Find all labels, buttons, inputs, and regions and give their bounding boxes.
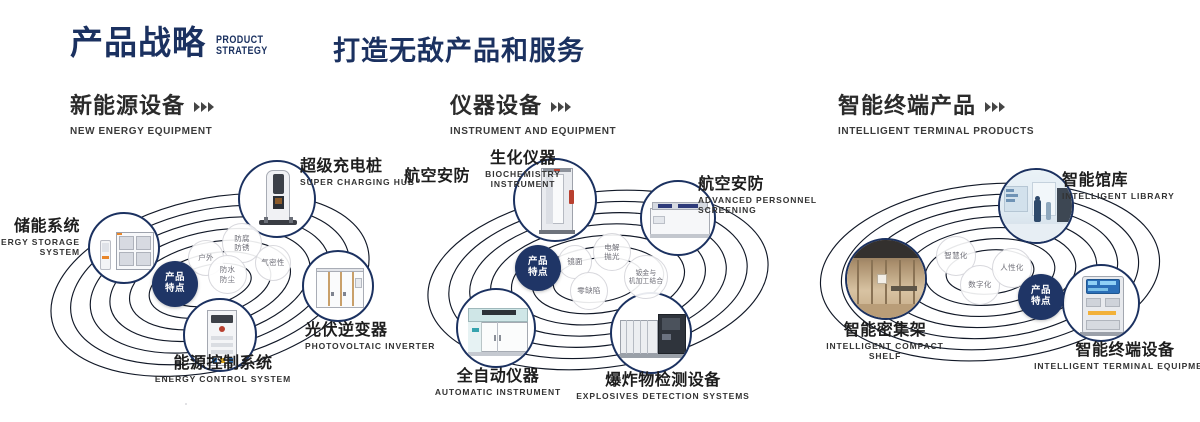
node-label-intelligent-compact-shelf-en2: SHELF bbox=[869, 351, 901, 361]
feature-bubble-airtightness-l1: 气密性 bbox=[261, 258, 284, 267]
intelligent-compact-shelf-image bbox=[847, 240, 925, 318]
section-heading-new-energy-en: NEW ENERGY EQUIPMENT bbox=[70, 126, 214, 137]
center-badge-product-features: 产品 特点 bbox=[1018, 274, 1064, 320]
node-label-intelligent-compact-shelf-en: INTELLIGENT COMPACT SHELF bbox=[780, 341, 990, 362]
chevron-right-icon bbox=[194, 102, 214, 112]
node-label-explosives-detection-systems-cn: 爆炸物检测设备 bbox=[538, 372, 788, 389]
center-badge-line2: 特点 bbox=[165, 284, 185, 295]
center-badge-line2: 特点 bbox=[1031, 297, 1051, 308]
node-label-intelligent-terminal-equipment-en: INTELLIGENT TERMINAL EQUIPMENT bbox=[1000, 361, 1200, 372]
node-intelligent-compact-shelf[interactable] bbox=[845, 238, 927, 320]
node-label-intelligent-terminal-equipment-cn: 智能终端设备 bbox=[1000, 342, 1200, 359]
center-badge-line2: 特点 bbox=[528, 268, 548, 279]
feature-bubble-sheetmetal-machining-l2: 机加工结合 bbox=[629, 277, 663, 285]
node-label-aviation-security-left: 航空安防 bbox=[338, 168, 470, 185]
section-heading-intelligent-terminal: 智能终端产品 INTELLIGENT TERMINAL PRODUCTS bbox=[838, 96, 1034, 137]
feature-bubble-waterproof-l1: 防水 bbox=[220, 265, 236, 274]
feature-bubble-electrolytic-polishing: 电解 抛光 bbox=[593, 233, 631, 271]
section-heading-new-energy-cn-row: 新能源设备 bbox=[70, 96, 214, 118]
feature-bubble-zero-defect: 零缺陷 bbox=[570, 272, 608, 310]
node-label-energy-storage-system-en2: SYSTEM bbox=[40, 247, 80, 257]
feature-bubble-electrolytic-polishing-l1: 电解 bbox=[604, 243, 620, 252]
node-label-intelligent-library: 智能馆库 INTELLIGENT LIBRARY bbox=[1062, 172, 1200, 201]
feature-bubble-intelligentization-l1: 智慧化 bbox=[944, 251, 967, 260]
feature-bubble-sheetmetal-machining-l1: 钣金与 bbox=[636, 269, 657, 277]
center-badge-product-features: 产品 特点 bbox=[515, 245, 561, 291]
node-label-energy-storage-system-cn: 储能系统 bbox=[0, 218, 80, 235]
chevron-right-icon bbox=[985, 102, 1005, 112]
node-photovoltaic-inverter[interactable] bbox=[302, 250, 374, 322]
section-heading-new-energy: 新能源设备 NEW ENERGY EQUIPMENT bbox=[70, 96, 214, 137]
section-heading-intelligent-terminal-cn: 智能终端产品 bbox=[838, 96, 976, 118]
node-label-aviation-security-left-cn: 航空安防 bbox=[338, 168, 470, 185]
cluster-instrument: 航空安防 生化仪器 BIOCHEMISTRY INSTRUMENT 航空安防 bbox=[398, 150, 798, 420]
page-title: 产品战略 bbox=[70, 26, 206, 59]
feature-bubble-mirror-finish-l1: 镜面 bbox=[567, 257, 583, 266]
feature-bubble-electrolytic-polishing-l2: 抛光 bbox=[604, 252, 620, 261]
feature-bubble-digitalization-l1: 数字化 bbox=[968, 280, 991, 289]
section-heading-intelligent-terminal-en: INTELLIGENT TERMINAL PRODUCTS bbox=[838, 126, 1034, 137]
page-title-english: PRODUCT STRATEGY bbox=[216, 35, 268, 57]
node-label-intelligent-terminal-equipment: 智能终端设备 INTELLIGENT TERMINAL EQUIPMENT bbox=[1000, 342, 1200, 371]
feature-bubble-humanization-l1: 人性化 bbox=[1000, 263, 1023, 272]
node-label-biochemistry-instrument-en: BIOCHEMISTRY INSTRUMENT bbox=[458, 169, 588, 190]
node-label-intelligent-library-en: INTELLIGENT LIBRARY bbox=[1062, 191, 1200, 202]
feature-bubble-zero-defect-l1: 零缺陷 bbox=[577, 286, 600, 295]
feature-bubble-anticorrosion-l1: 防腐 bbox=[234, 234, 250, 243]
node-label-energy-storage-system: 储能系统 ENERGY STORAGE SYSTEM bbox=[0, 218, 80, 258]
page-slogan: 打造无敌产品和服务 bbox=[333, 38, 585, 65]
energy-storage-system-image bbox=[90, 214, 158, 282]
cluster-intelligent-terminal: 智能馆库 INTELLIGENT LIBRARY 智能密集架 INTELLIGE… bbox=[790, 150, 1190, 420]
node-label-biochemistry-instrument-en1: BIOCHEMISTRY bbox=[485, 169, 561, 179]
feature-bubble-waterproof: 防水 防尘 bbox=[208, 255, 247, 294]
node-label-energy-control-system-en: ENERGY CONTROL SYSTEM bbox=[78, 374, 368, 385]
section-heading-instrument-cn-row: 仪器设备 bbox=[450, 96, 616, 118]
node-label-biochemistry-instrument-cn: 生化仪器 bbox=[458, 150, 588, 167]
page-header: 产品战略 PRODUCT STRATEGY bbox=[70, 26, 279, 59]
node-label-explosives-detection-systems: 爆炸物检测设备 EXPLOSIVES DETECTION SYSTEMS bbox=[538, 372, 788, 401]
explosives-detection-systems-image bbox=[612, 294, 690, 372]
node-label-biochemistry-instrument: 生化仪器 BIOCHEMISTRY INSTRUMENT bbox=[458, 150, 588, 190]
node-label-intelligent-compact-shelf-cn: 智能密集架 bbox=[780, 322, 990, 339]
section-heading-intelligent-terminal-cn-row: 智能终端产品 bbox=[838, 96, 1034, 118]
center-badge-product-features: 产品 特点 bbox=[152, 261, 198, 307]
page-title-english-line2: STRATEGY bbox=[216, 46, 268, 57]
node-label-energy-storage-system-en1: ENERGY STORAGE bbox=[0, 237, 80, 247]
section-heading-instrument-en: INSTRUMENT AND EQUIPMENT bbox=[450, 126, 616, 137]
node-explosives-detection-systems[interactable] bbox=[610, 292, 692, 374]
feature-bubble-sheetmetal-machining: 钣金与 机加工结合 bbox=[624, 255, 668, 299]
node-label-intelligent-compact-shelf-en1: INTELLIGENT COMPACT bbox=[826, 341, 944, 351]
cluster-new-energy: 储能系统 ENERGY STORAGE SYSTEM 超级充电桩 SUPER C… bbox=[0, 150, 400, 420]
node-intelligent-terminal-equipment[interactable] bbox=[1062, 264, 1140, 342]
automatic-instrument-image bbox=[458, 290, 534, 366]
node-label-intelligent-compact-shelf: 智能密集架 INTELLIGENT COMPACT SHELF bbox=[780, 322, 990, 362]
feature-bubble-waterproof-l2: 防尘 bbox=[220, 275, 236, 284]
node-label-intelligent-library-cn: 智能馆库 bbox=[1062, 172, 1200, 189]
node-label-advanced-personnel-screening-en2: SCREENING bbox=[698, 205, 757, 215]
section-heading-instrument: 仪器设备 INSTRUMENT AND EQUIPMENT bbox=[450, 96, 616, 137]
feature-bubble-airtightness: 气密性 bbox=[255, 245, 291, 281]
node-energy-storage-system[interactable] bbox=[88, 212, 160, 284]
section-heading-new-energy-cn: 新能源设备 bbox=[70, 96, 185, 118]
feature-bubble-anticorrosion-l2: 防锈 bbox=[234, 243, 250, 252]
chevron-right-icon bbox=[551, 102, 571, 112]
node-label-energy-control-system-cn: 能源控制系统 bbox=[78, 355, 368, 372]
node-label-energy-control-system: 能源控制系统 ENERGY CONTROL SYSTEM bbox=[78, 355, 368, 384]
node-automatic-instrument[interactable] bbox=[456, 288, 536, 368]
node-label-biochemistry-instrument-en2: INSTRUMENT bbox=[491, 179, 556, 189]
intelligent-terminal-equipment-image bbox=[1064, 266, 1138, 340]
section-heading-instrument-cn: 仪器设备 bbox=[450, 96, 542, 118]
node-label-explosives-detection-systems-en: EXPLOSIVES DETECTION SYSTEMS bbox=[538, 391, 788, 402]
product-strategy-infographic: 产品战略 PRODUCT STRATEGY 打造无敌产品和服务 新能源设备 NE… bbox=[0, 0, 1200, 422]
photovoltaic-inverter-image bbox=[304, 252, 372, 320]
node-label-energy-storage-system-en: ENERGY STORAGE SYSTEM bbox=[0, 237, 80, 258]
